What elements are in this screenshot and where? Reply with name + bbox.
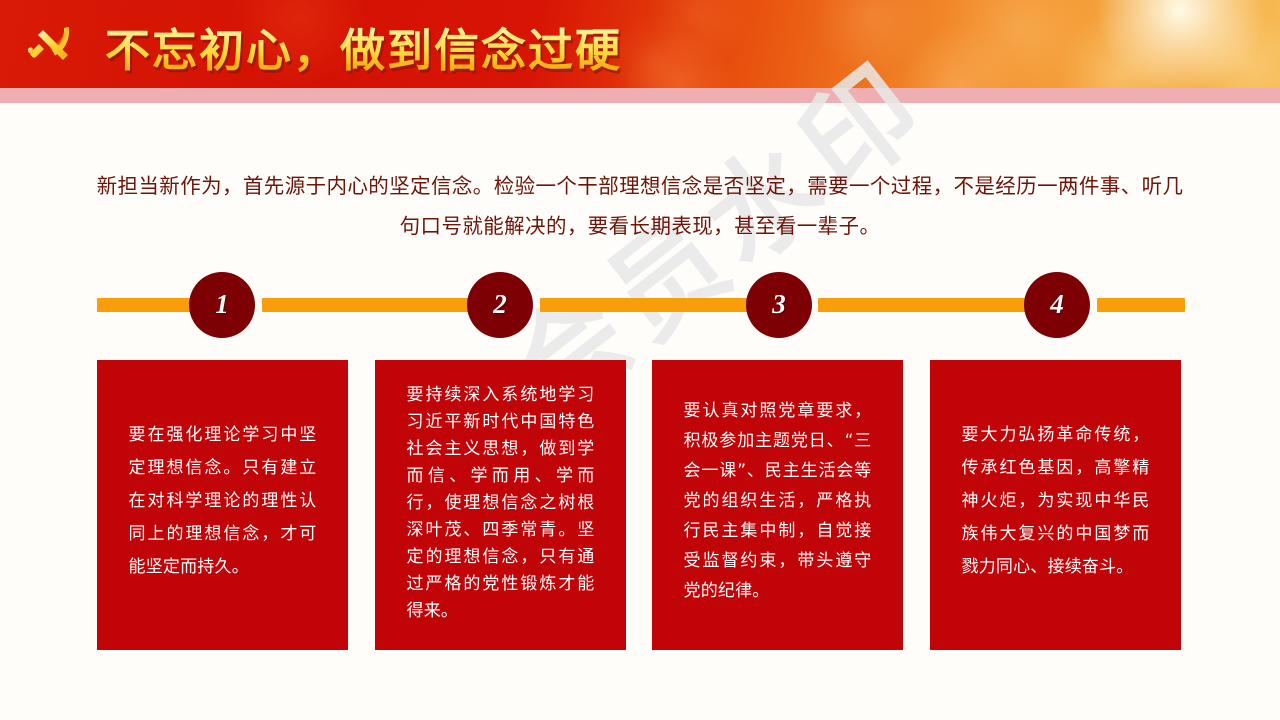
timeline-step-3[interactable]: 3 [746, 272, 812, 338]
content-card-4-text: 要大力弘扬革命传统，传承红色基因，高擎精神火炬，为实现中华民族伟大复兴的中国梦而… [962, 419, 1150, 584]
content-card-2-text: 要持续深入系统地学习习近平新时代中国特色社会主义思想，做到学而信、学而用、学而行… [407, 382, 595, 625]
content-card-1-text: 要在强化理论学习中坚定理想信念。只有建立在对科学理论的理性认同上的理想信念，才可… [129, 419, 317, 584]
page-title: 不忘初心，做到信念过硬 [105, 14, 622, 79]
timeline-step-3-number: 3 [772, 289, 786, 320]
timeline-step-2[interactable]: 2 [467, 272, 533, 338]
timeline-step-2-number: 2 [493, 289, 507, 320]
timeline-step-1-number: 1 [215, 289, 229, 320]
content-card-3[interactable]: 要认真对照党章要求，积极参加主题党日、“三会一课”、民主生活会等党的组织生活，严… [652, 360, 903, 650]
header-accent-strip [0, 88, 1280, 103]
slide-header: 不忘初心，做到信念过硬 [0, 0, 1280, 88]
content-card-2[interactable]: 要持续深入系统地学习习近平新时代中国特色社会主义思想，做到学而信、学而用、学而行… [375, 360, 626, 650]
content-card-1[interactable]: 要在强化理论学习中坚定理想信念。只有建立在对科学理论的理性认同上的理想信念，才可… [97, 360, 348, 650]
timeline-step-4-number: 4 [1050, 289, 1064, 320]
timeline: 1 2 3 4 [0, 272, 1280, 338]
hammer-sickle-icon [26, 20, 76, 70]
timeline-step-1[interactable]: 1 [189, 272, 255, 338]
timeline-bar-segment-5 [1097, 298, 1185, 312]
timeline-step-4[interactable]: 4 [1024, 272, 1090, 338]
intro-line-1: 新担当新作为，首先源于内心的坚定信念。检验一个干部理想信念是否坚定，需要一个过程… [97, 174, 1142, 198]
content-card-3-text: 要认真对照党章要求，积极参加主题党日、“三会一课”、民主生活会等党的组织生活，严… [684, 396, 872, 606]
content-card-4[interactable]: 要大力弘扬革命传统，传承红色基因，高擎精神火炬，为实现中华民族伟大复兴的中国梦而… [930, 360, 1181, 650]
intro-paragraph: 新担当新作为，首先源于内心的坚定信念。检验一个干部理想信念是否坚定，需要一个过程… [90, 166, 1190, 246]
